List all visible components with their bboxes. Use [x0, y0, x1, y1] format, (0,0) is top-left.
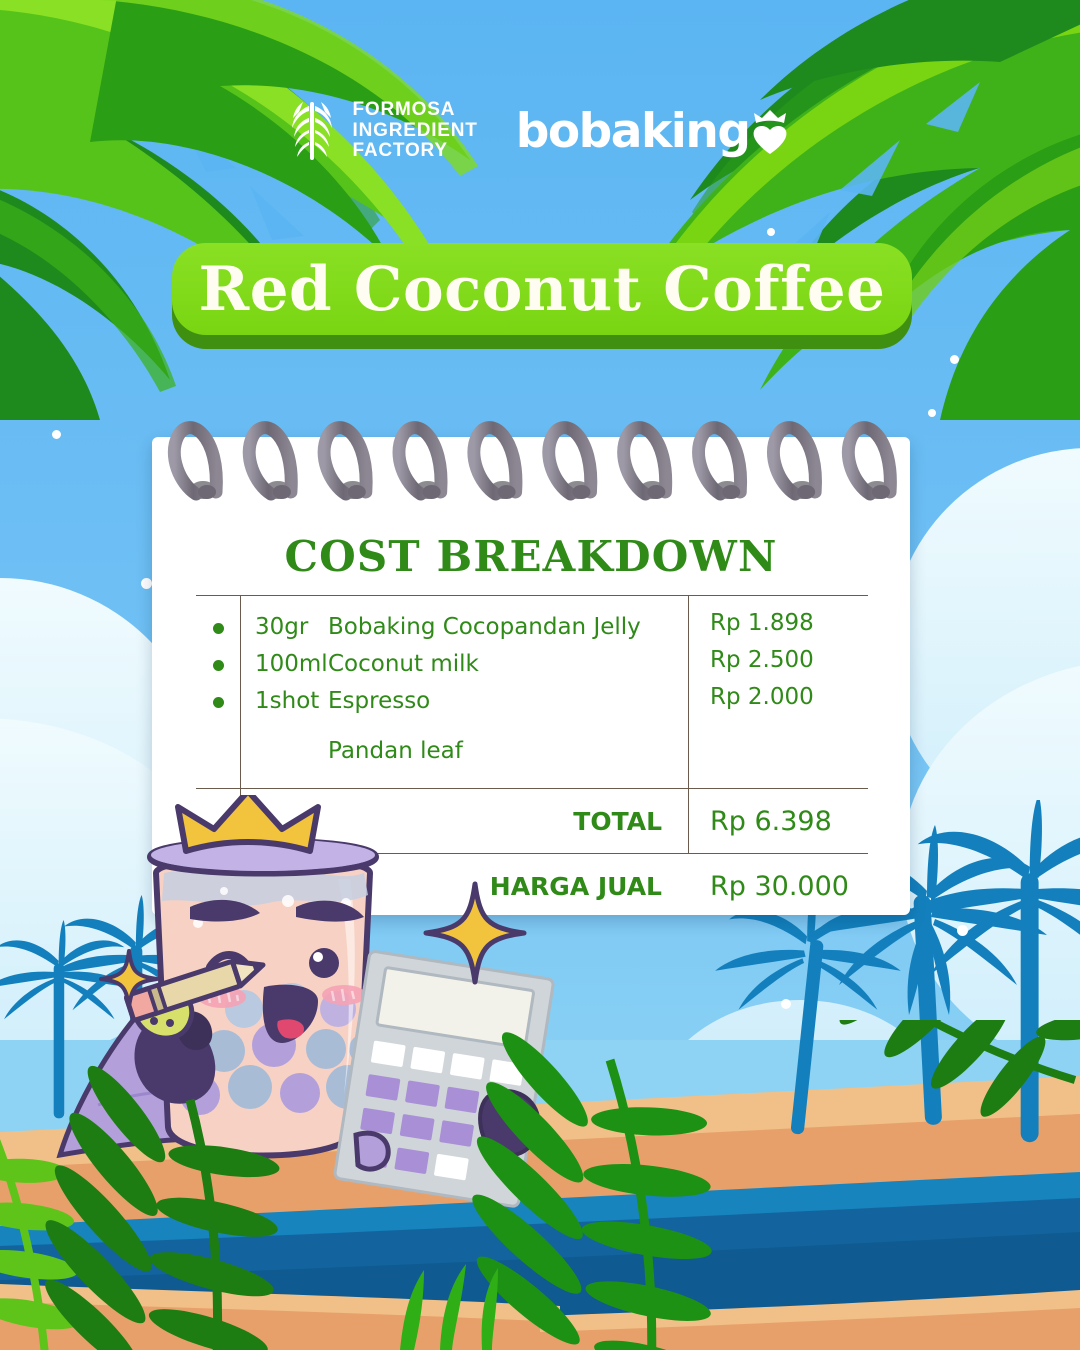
- row-bullet: [196, 684, 240, 721]
- row-bullet: [196, 610, 240, 647]
- formosa-tree-mark-icon: [285, 100, 339, 162]
- palm-frond-icon: [796, 1020, 1080, 1169]
- product-title-banner: Red Coconut Coffee: [172, 243, 912, 349]
- table-row: Pandan leaf: [196, 721, 868, 758]
- brand-logo-row: FORMOSA INGREDIENT FACTORY bobaking: [0, 86, 1080, 176]
- dot: [52, 430, 61, 439]
- bobaking-wordmark: bobaking: [516, 104, 750, 159]
- bullet-dot-icon: [213, 660, 224, 671]
- card-heading: COST BREAKDOWN: [152, 532, 910, 581]
- palm-frond-icon: [377, 1020, 815, 1350]
- table-row: 100mlCoconut milkRp 2.500: [196, 647, 868, 684]
- poster-canvas: FORMOSA INGREDIENT FACTORY bobaking Red …: [0, 0, 1080, 1350]
- row-price: Rp 2.500: [688, 647, 868, 673]
- sparkle-icon-large: [420, 878, 530, 988]
- formosa-line-2: INGREDIENT: [353, 121, 478, 142]
- row-ingredient: Bobaking Cocopandan Jelly: [328, 614, 641, 640]
- total-value: Rp 6.398: [688, 806, 832, 837]
- table-row: 30grBobaking Cocopandan JellyRp 1.898: [196, 610, 868, 647]
- dot: [928, 409, 936, 417]
- page-title: Red Coconut Coffee: [199, 254, 886, 325]
- row-ingredient: Espresso: [328, 688, 430, 714]
- dot: [957, 925, 968, 936]
- row-quantity: 30gr: [240, 614, 328, 640]
- table-row: 1shotEspressoRp 2.000: [196, 684, 868, 721]
- banner-face: Red Coconut Coffee: [172, 243, 912, 335]
- dot: [141, 578, 152, 589]
- formosa-line-3: FACTORY: [353, 141, 478, 162]
- dot: [950, 355, 959, 364]
- crowned-heart-icon: [747, 109, 795, 157]
- ingredient-rows: 30grBobaking Cocopandan JellyRp 1.898100…: [196, 596, 868, 788]
- dot: [767, 228, 775, 236]
- formosa-logo: FORMOSA INGREDIENT FACTORY: [285, 100, 478, 162]
- row-price: Rp 2.000: [688, 684, 868, 710]
- row-quantity: 100ml: [240, 651, 328, 677]
- bobaking-logo: bobaking: [516, 104, 796, 159]
- grass-blades: [400, 1264, 498, 1350]
- bullet-dot-icon: [213, 697, 224, 708]
- row-bullet: [196, 721, 240, 758]
- harga-jual-value: Rp 30.000: [688, 871, 849, 902]
- row-price: Rp 1.898: [688, 610, 868, 636]
- row-ingredient: Pandan leaf: [328, 738, 463, 764]
- crown-icon: [178, 795, 318, 851]
- bullet-dot-icon: [213, 623, 224, 634]
- row-quantity: 1shot: [240, 688, 328, 714]
- row-ingredient: Coconut milk: [328, 651, 479, 677]
- eye-right: [309, 948, 339, 978]
- foreground-frond-layer: [0, 1020, 1080, 1350]
- palm-frond-icon: [0, 1045, 378, 1350]
- blush-right: [322, 985, 366, 1005]
- sparkle-icon-small: [98, 948, 160, 1010]
- row-bullet: [196, 647, 240, 684]
- formosa-line-1: FORMOSA: [353, 100, 478, 121]
- formosa-wordmark: FORMOSA INGREDIENT FACTORY: [353, 100, 478, 162]
- dot: [781, 999, 791, 1009]
